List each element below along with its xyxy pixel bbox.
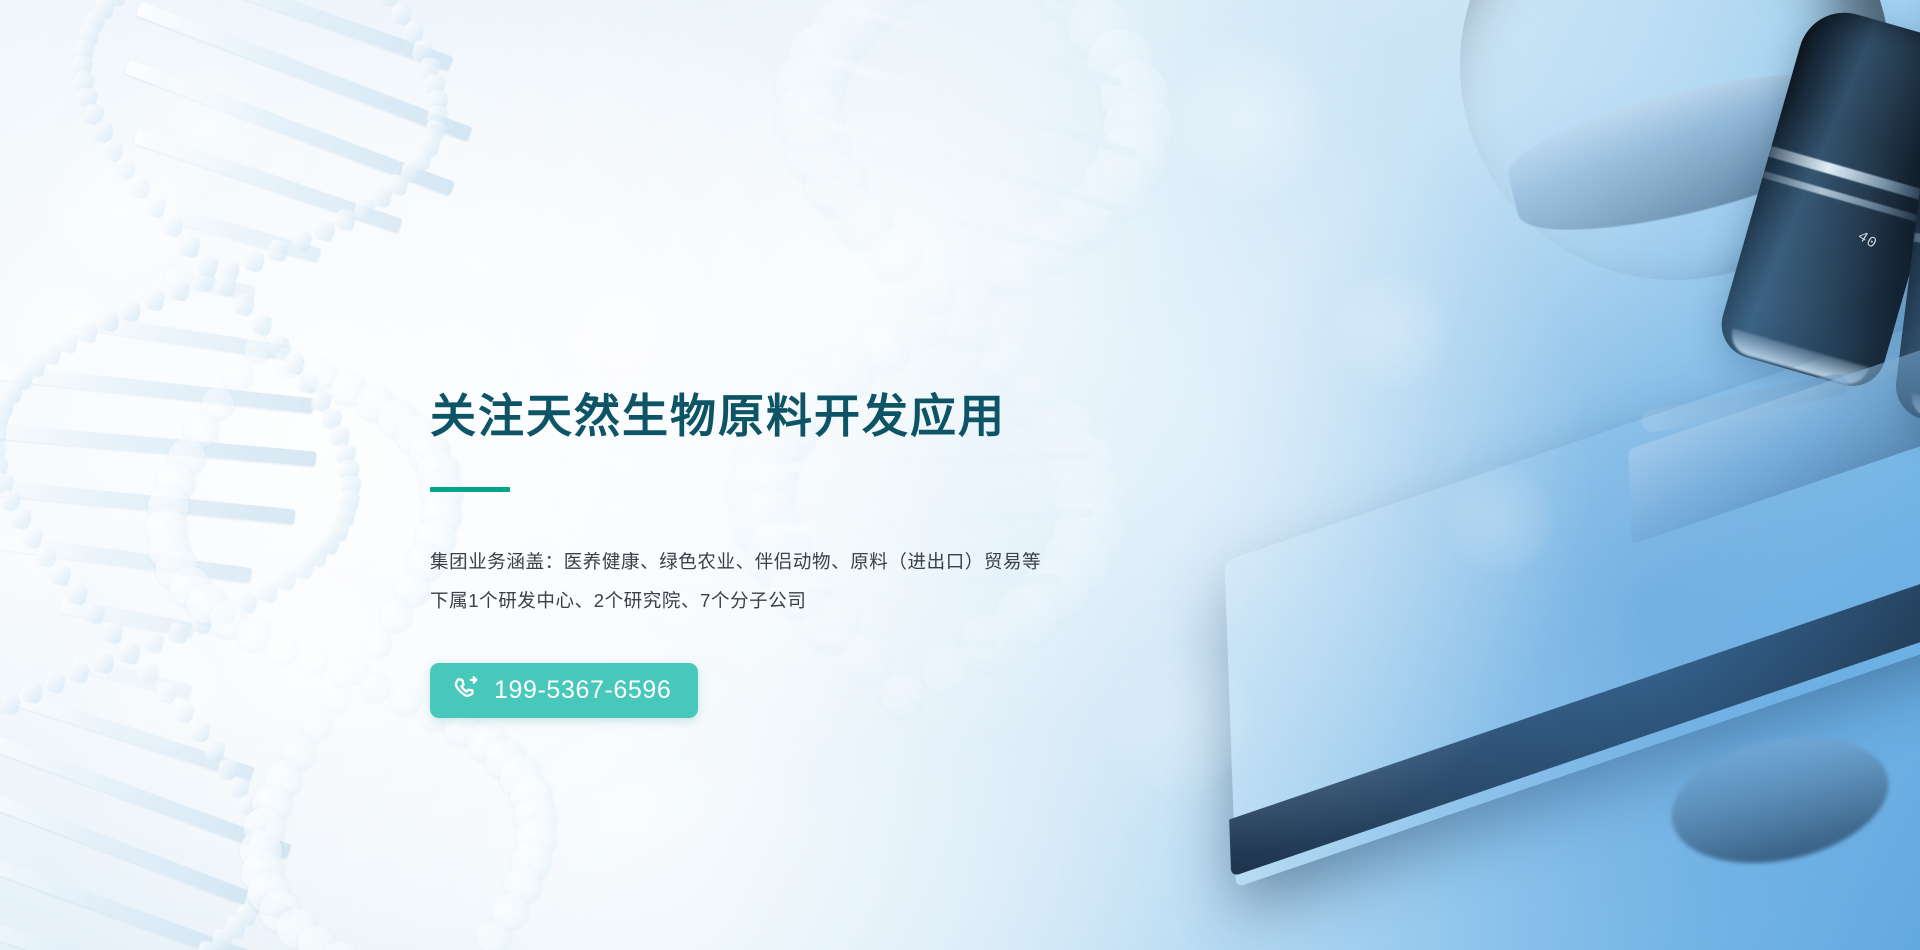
hero-description: 集团业务涵盖：医养健康、绿色农业、伴侣动物、原料（进出口）贸易等 下属1个研发中… — [430, 542, 1210, 620]
phone-number-label: 199-5367-6596 — [494, 678, 671, 703]
title-underline-rule — [430, 487, 510, 492]
hero-description-line-2: 下属1个研发中心、2个研究院、7个分子公司 — [430, 581, 1210, 620]
contact-phone-button[interactable]: 199-5367-6596 — [430, 663, 698, 718]
hero-banner: 40 100/1.25 160/0.17 100 关注天然生物原料开发应用 集团… — [0, 0, 1920, 950]
phone-forwarded-icon — [452, 676, 481, 705]
page-title: 关注天然生物原料开发应用 — [430, 390, 1210, 443]
microscope-image: 40 100/1.25 160/0.17 100 — [1160, 0, 1920, 950]
lens-label-40: 40 — [1854, 228, 1880, 253]
microscope-focus-knob — [1660, 718, 1900, 881]
hero-content: 关注天然生物原料开发应用 集团业务涵盖：医养健康、绿色农业、伴侣动物、原料（进出… — [430, 390, 1210, 718]
hero-description-line-1: 集团业务涵盖：医养健康、绿色农业、伴侣动物、原料（进出口）贸易等 — [430, 542, 1210, 581]
